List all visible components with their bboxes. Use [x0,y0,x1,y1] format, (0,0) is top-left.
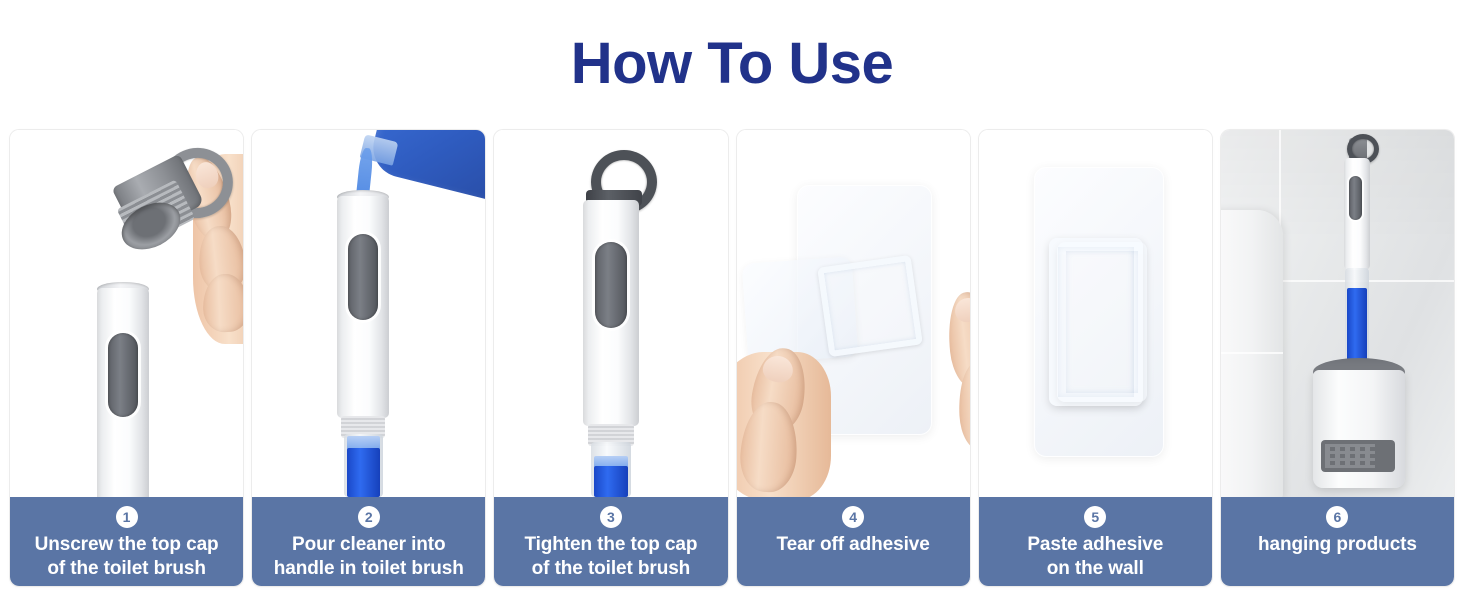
caption-line-2a: Pour cleaner into [292,534,446,555]
blue-liquid-icon [594,466,628,497]
step-card-6[interactable]: 6 hanging products [1221,130,1454,586]
step-card-3[interactable]: 3 Tighten the top cap of the toilet brus… [494,130,727,586]
step-image-6 [1221,130,1454,497]
caption-line-1a: Unscrew the top cap [35,534,219,555]
adhesive-hook-square-icon [817,255,923,357]
steps-strip: 1 Unscrew the top cap of the toilet brus… [10,130,1454,586]
step-badge-2: 2 [358,506,380,528]
step-caption-1: 1 Unscrew the top cap of the toilet brus… [10,497,243,586]
step-image-4 [737,130,970,497]
step-badge-5: 5 [1084,506,1106,528]
step-card-2[interactable]: 2 Pour cleaner into handle in toilet bru… [252,130,485,586]
clear-hook-bracket-depth-icon [1057,242,1147,402]
step-card-4[interactable]: 4 Tear off adhesive [737,130,970,586]
handle-grip-window-icon [1349,176,1362,220]
step-caption-text-1: Unscrew the top cap of the toilet brush [29,533,225,582]
tank-seam-line [1221,352,1283,354]
caption-line-1b: of the toilet brush [47,558,206,579]
step-image-1 [10,130,243,497]
step-caption-text-3: Tighten the top cap of the toilet brush [518,533,703,582]
step-badge-6: 6 [1326,506,1348,528]
step-caption-text-5: Paste adhesive on the wall [1021,533,1169,582]
caption-line-2b: handle in toilet brush [274,558,464,579]
step-card-1[interactable]: 1 Unscrew the top cap of the toilet brus… [10,130,243,586]
holder-vent-slits-icon [1325,444,1375,468]
blue-liquid-icon [347,448,380,497]
caption-line-3a: Tighten the top cap [524,534,697,555]
step-caption-6: 6 hanging products [1221,497,1454,586]
caption-line-5b: on the wall [1047,558,1144,579]
step-caption-3: 3 Tighten the top cap of the toilet brus… [494,497,727,586]
step-image-2 [252,130,485,497]
handle-grip-window-icon [348,234,378,320]
page-title: How To Use [571,35,894,93]
caption-line-3b: of the toilet brush [532,558,691,579]
handle-grip-window-icon [595,242,627,328]
step-image-5 [979,130,1212,497]
step-caption-text-4: Tear off adhesive [771,533,936,557]
step-badge-4: 4 [842,506,864,528]
step-badge-3: 3 [600,506,622,528]
step-caption-5: 5 Paste adhesive on the wall [979,497,1212,586]
step-caption-2: 2 Pour cleaner into handle in toilet bru… [252,497,485,586]
page-title-container: How To Use [0,0,1464,128]
caption-line-5a: Paste adhesive [1027,534,1163,555]
how-to-use-infographic: How To Use 1 [0,0,1464,600]
step-caption-text-6: hanging products [1252,533,1423,557]
step-card-5[interactable]: 5 Paste adhesive on the wall [979,130,1212,586]
caption-line-4a: Tear off adhesive [777,534,930,555]
step-caption-4: 4 Tear off adhesive [737,497,970,586]
caption-line-6a: hanging products [1258,534,1417,555]
step-caption-text-2: Pour cleaner into handle in toilet brush [268,533,470,582]
step-image-3 [494,130,727,497]
step-badge-1: 1 [116,506,138,528]
handle-grip-window-icon [108,333,138,417]
